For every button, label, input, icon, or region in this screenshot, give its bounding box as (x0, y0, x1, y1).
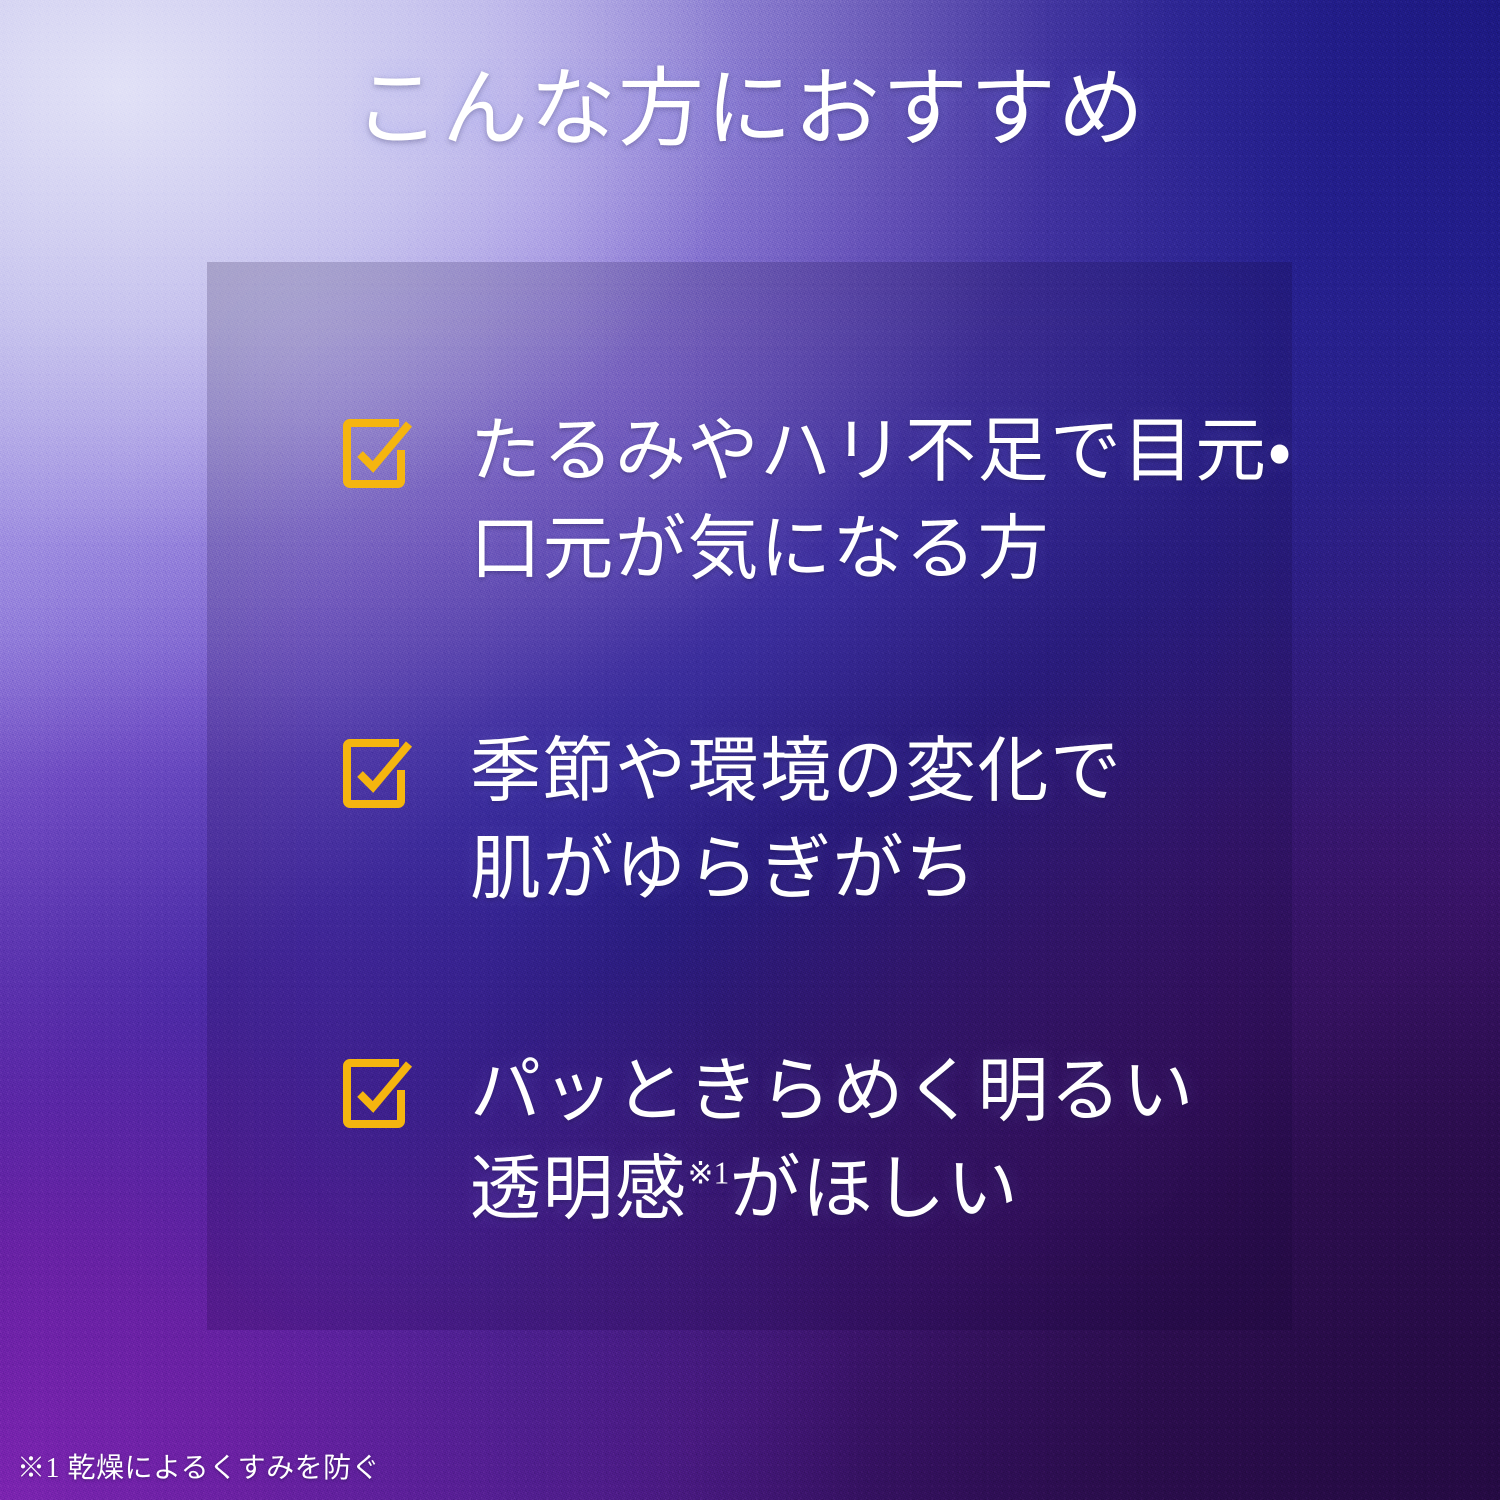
list-item: 季節や環境の変化で 肌がゆらぎがち (340, 724, 1340, 920)
checkbox-checked-icon (340, 1056, 414, 1136)
list-item-text: パッときらめく明るい 透明感※1がほしい (470, 1044, 1195, 1240)
footnote-text: ※1 乾燥によるくすみを防ぐ (17, 1452, 380, 1486)
list-item-line2: 肌がゆらぎがち (470, 831, 978, 909)
list-item-line1: パッときらめく明るい (470, 1053, 1195, 1131)
list-item-text: 季節や環境の変化で 肌がゆらぎがち (470, 724, 1123, 920)
list-item-line1: たるみやハリ不足で目元・ (470, 413, 1293, 491)
list-item-line2-before: 透明感 (470, 1151, 688, 1229)
list-item: たるみやハリ不足で目元・ 口元が気になる方 (340, 404, 1340, 600)
list-item-line2: 口元が気になる方 (470, 511, 1050, 589)
checkbox-checked-icon (340, 736, 414, 816)
list-item: パッときらめく明るい 透明感※1がほしい (340, 1044, 1340, 1240)
footnote-marker: ※1 (688, 1155, 730, 1190)
promo-banner: こんな方におすすめ たるみやハリ不足で目元・ 口元が気になる方 (0, 0, 1500, 1500)
checkbox-checked-icon (340, 416, 414, 496)
list-item-text: たるみやハリ不足で目元・ 口元が気になる方 (470, 404, 1293, 600)
page-title: こんな方におすすめ (0, 64, 1500, 154)
list-item-line1: 季節や環境の変化で (470, 733, 1123, 811)
list-item-line2-after: がほしい (729, 1151, 1019, 1229)
checklist: たるみやハリ不足で目元・ 口元が気になる方 季節や環境の変化で 肌がゆらぎがち (340, 404, 1340, 1240)
